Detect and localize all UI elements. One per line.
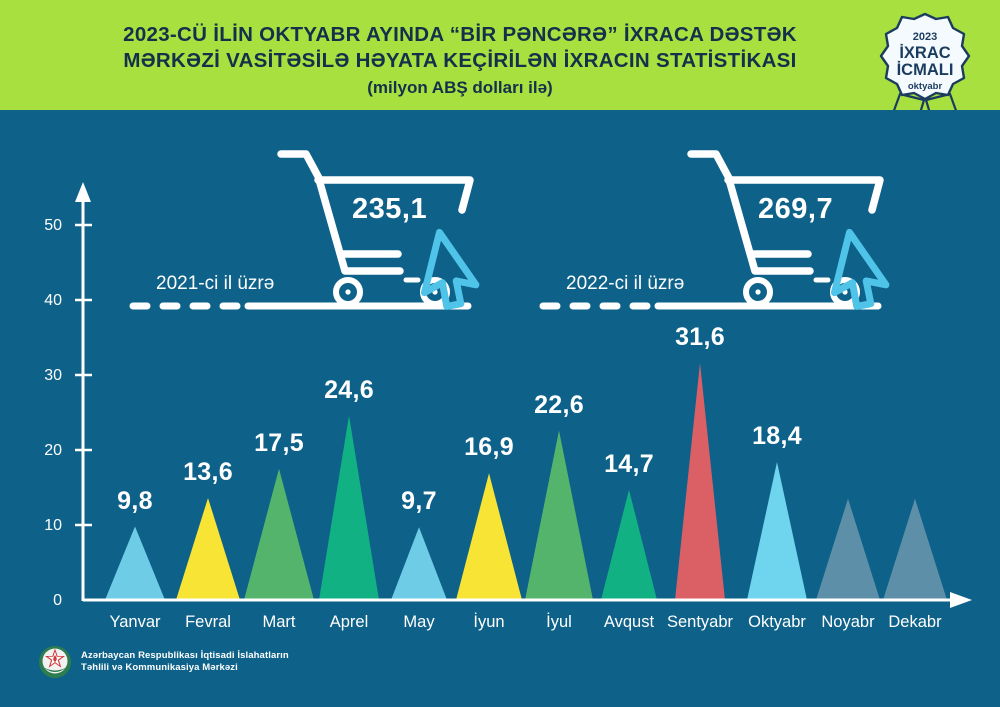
callout-value-2022: 269,7 xyxy=(758,193,833,226)
callout-value-2021: 235,1 xyxy=(352,193,427,226)
azerbaijan-emblem-icon xyxy=(38,645,72,679)
page-title-line2: MƏRKƏZİ VASİTƏSİLƏ HƏYATA KEÇİRİLƏN İXRA… xyxy=(60,48,860,74)
bar-dekabr xyxy=(883,499,947,600)
ixrac-icmali-badge: 2023 İXRAC İCMALI oktyabr xyxy=(866,8,984,110)
page-title-line1: 2023-CÜ İLİN OKTYABR AYINDA “BİR PƏNCƏRƏ… xyxy=(60,22,860,48)
cursor-arrow-icon-2022 xyxy=(833,232,897,312)
y-tick-label-50: 50 xyxy=(22,217,62,235)
callout-2021: 235,1 2021-ci il üzrə xyxy=(130,138,510,333)
value-label-mart: 17,5 xyxy=(224,429,334,458)
infographic-page: 2023-CÜ İLİN OKTYABR AYINDA “BİR PƏNCƏRƏ… xyxy=(0,0,1000,707)
value-label-aprel: 24,6 xyxy=(294,376,404,405)
x-label-dekabr: Dekabr xyxy=(860,613,970,632)
value-label-yanvar: 9,8 xyxy=(80,487,190,516)
footer-org-text: Azərbaycan Respublikası İqtisadi İslahat… xyxy=(81,650,289,675)
bar-may xyxy=(391,527,447,600)
y-tick-label-30: 30 xyxy=(22,367,62,385)
y-tick-label-40: 40 xyxy=(22,292,62,310)
value-label-i̇yun: 16,9 xyxy=(434,433,544,462)
callout-year-label-2022: 2022-ci il üzrə xyxy=(566,273,684,295)
bar-sentyabr xyxy=(675,363,725,600)
callout-year-label-2021: 2021-ci il üzrə xyxy=(156,273,274,295)
bar-yanvar xyxy=(105,527,165,601)
y-tick-label-20: 20 xyxy=(22,442,62,460)
value-label-oktyabr: 18,4 xyxy=(722,422,832,451)
header-banner: 2023-CÜ İLİN OKTYABR AYINDA “BİR PƏNCƏRƏ… xyxy=(0,0,1000,110)
value-label-fevral: 13,6 xyxy=(153,458,263,487)
badge-year: 2023 xyxy=(913,31,937,43)
footer-org-line1: Azərbaycan Respublikası İqtisadi İslahat… xyxy=(81,650,289,663)
footer-credit: Azərbaycan Respublikası İqtisadi İslahat… xyxy=(38,645,289,679)
footer-org-line2: Təhlili və Kommunikasiya Mərkəzi xyxy=(81,662,289,675)
x-axis-arrow xyxy=(950,592,972,608)
callout-2022: 269,7 2022-ci il üzrə xyxy=(540,138,920,333)
value-label-may: 9,7 xyxy=(364,487,474,516)
bar-avqust xyxy=(601,490,657,600)
cursor-arrow-icon-2021 xyxy=(423,232,487,312)
badge-month: oktyabr xyxy=(908,81,943,92)
value-label-avqust: 14,7 xyxy=(574,450,684,479)
y-tick-label-10: 10 xyxy=(22,517,62,535)
chart-area: 0 10 20 30 40 50 YanvarFevralMartAprelMa… xyxy=(0,110,1000,707)
badge-line2: İCMALI xyxy=(897,61,954,79)
bar-mart xyxy=(244,469,314,600)
header-title-block: 2023-CÜ İLİN OKTYABR AYINDA “BİR PƏNCƏRƏ… xyxy=(60,22,860,98)
bar-oktyabr xyxy=(747,462,807,600)
bar-noyabr xyxy=(816,499,880,600)
y-axis-arrow xyxy=(75,182,91,202)
y-tick-label-0: 0 xyxy=(22,592,62,610)
value-label-i̇yul: 22,6 xyxy=(504,391,614,420)
page-subtitle: (milyon ABŞ dolları ilə) xyxy=(60,78,860,98)
badge-line1: İXRAC xyxy=(899,44,950,62)
